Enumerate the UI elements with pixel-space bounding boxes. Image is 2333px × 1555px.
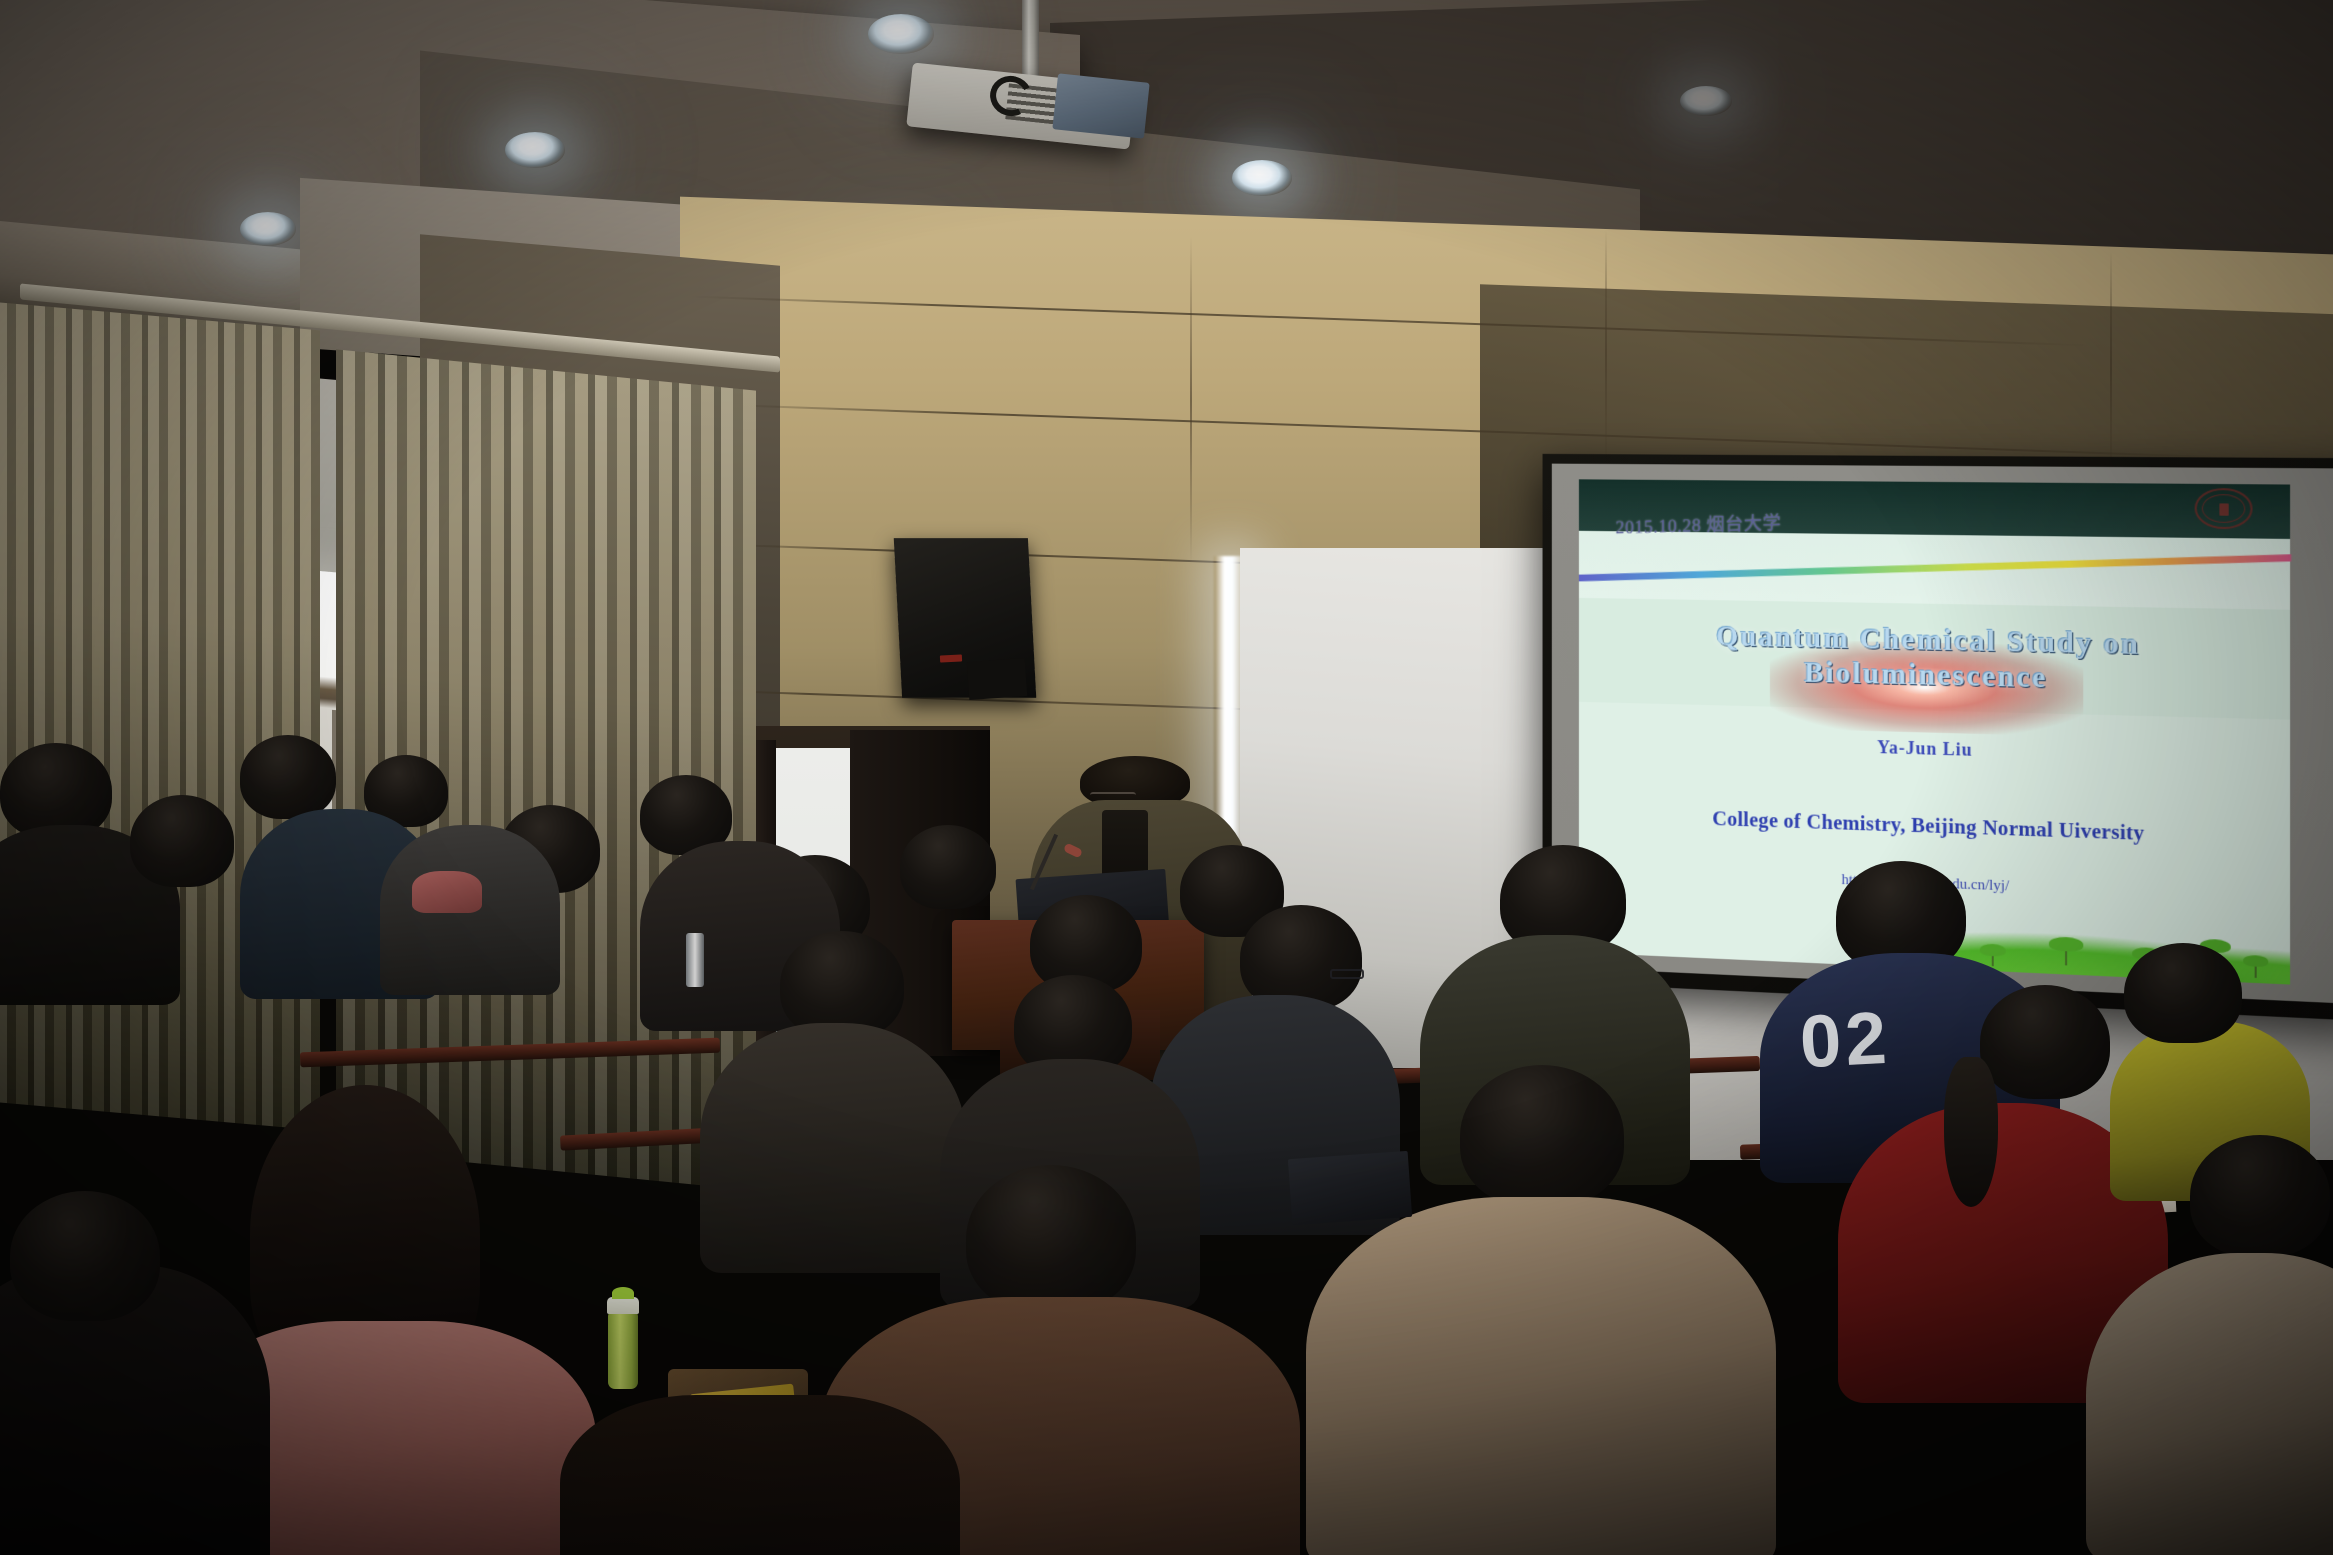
projector-lens-panel [1052, 73, 1149, 138]
wall-panel-seam-vertical [1190, 236, 1192, 566]
seat-row-number-tag [1328, 1082, 1377, 1100]
audience-laptop [1288, 1151, 1412, 1225]
audience-body [560, 1395, 960, 1555]
lectern-base [1000, 1010, 1160, 1080]
slide-date-venue: 2015.10.28 烟台大学 [1616, 508, 1782, 539]
slide-author: Ya-Jun Liu [1579, 729, 2291, 770]
thermos-cap [607, 1297, 639, 1314]
door-handle[interactable] [846, 950, 860, 955]
cream-coat-attendee [2086, 1253, 2333, 1555]
ceiling-downlight [1680, 86, 1732, 116]
audience-body [0, 1265, 270, 1555]
seat-row-number-tag [862, 1170, 911, 1188]
slide-url[interactable]: http://chem1.bnu.edu.cn/lyj/ [1579, 862, 2291, 906]
ceiling-downlight [505, 132, 565, 168]
wall-panel-seam-vertical [2110, 250, 2112, 490]
projector-mount-pole [1022, 0, 1039, 86]
speaker-bracket [967, 658, 1028, 700]
thermos-bottle [608, 1311, 638, 1389]
wall-panel-seam-vertical [1605, 230, 1607, 480]
slide: 2015.10.28 烟台大学 Quantum Chemical Study o… [1552, 464, 2333, 1005]
patterned-bag [668, 1369, 808, 1489]
curtain-panel-right[interactable] [336, 349, 756, 1190]
slide-canvas: 2015.10.28 烟台大学 Quantum Chemical Study o… [1579, 479, 2291, 985]
audience-body [940, 1059, 1200, 1309]
audience-head [10, 1191, 160, 1321]
speaker-brand-badge [940, 654, 962, 662]
ceiling-downlight [1232, 160, 1292, 196]
slide-hills-graphic [1953, 928, 2290, 985]
projection-screen-surface: 2015.10.28 烟台大学 Quantum Chemical Study o… [1552, 464, 2333, 1005]
pink-sweater-attendee [176, 1321, 596, 1555]
tan-coat-attendee [1306, 1197, 1776, 1555]
slide-rainbow-rule [1579, 554, 2291, 581]
thermos-ears-icon [612, 1287, 634, 1299]
slide-affiliation: College of Chemistry, Beijing Normal Uiv… [1579, 802, 2291, 851]
audience-body [820, 1297, 1300, 1555]
white-wall-right [1240, 548, 1580, 1068]
lecture-hall-scene: 2015.10.28 烟台大学 Quantum Chemical Study o… [0, 0, 2333, 1555]
curtain-panel-left[interactable] [0, 302, 320, 1131]
projection-screen: 2015.10.28 烟台大学 Quantum Chemical Study o… [1543, 454, 2333, 1022]
seat-row-number-tag [2128, 1196, 2177, 1214]
ceiling-downlight [240, 212, 296, 246]
ceiling-downlight [868, 14, 934, 54]
audience-head [966, 1165, 1136, 1313]
slide-title: Quantum Chemical Study on Bioluminescenc… [1579, 616, 2291, 702]
slide-header: 2015.10.28 烟台大学 [1579, 479, 2291, 609]
slide-body: Ya-Jun Liu College of Chemistry, Beijing… [1579, 702, 2291, 985]
corridor-light-through-door [776, 748, 850, 1048]
bag-zipper [690, 1384, 795, 1409]
